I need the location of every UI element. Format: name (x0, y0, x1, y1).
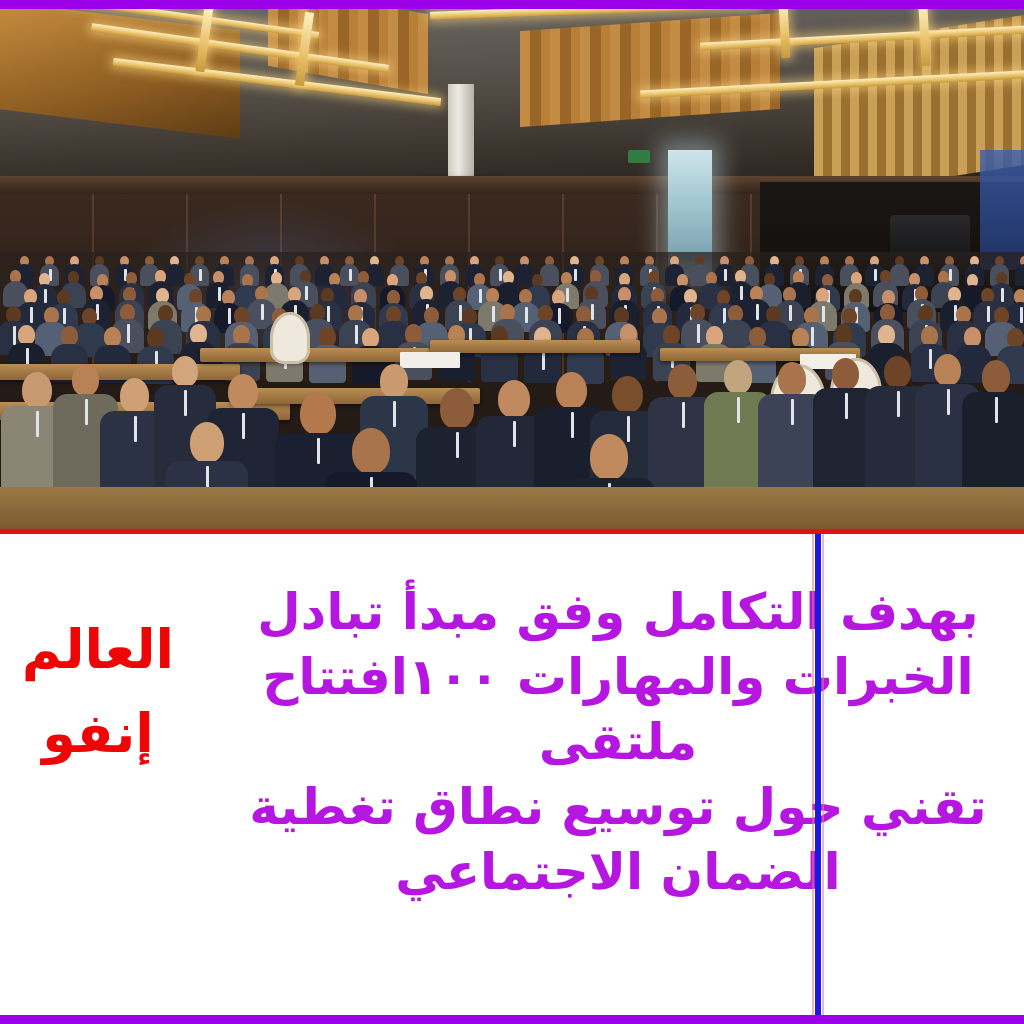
ceiling-wood-panel (520, 13, 780, 127)
attendee-lanyard (789, 305, 792, 322)
bottom-accent-bar (0, 1015, 1024, 1024)
audience-member-head (792, 328, 809, 348)
attendee-lanyard (897, 391, 900, 417)
audience-member-head (1007, 328, 1024, 348)
audience-member-head (921, 326, 938, 346)
brand-line-2: إنفو (0, 692, 196, 776)
audience-member-head (104, 327, 121, 347)
attendee-lanyard (30, 307, 33, 324)
audience-member-head (706, 326, 723, 346)
attendee-lanyard (36, 411, 39, 437)
attendee-lanyard (184, 390, 187, 416)
attendee-lanyard (218, 287, 221, 301)
attendee-lanyard (261, 304, 264, 321)
audience-member-head (147, 328, 164, 348)
audience-member-head (663, 325, 680, 345)
attendee-lanyard (845, 393, 848, 419)
audience-member-head (190, 324, 207, 344)
audience (0, 252, 1024, 529)
attendee-lanyard (393, 401, 396, 427)
attendee-lanyard (995, 397, 998, 423)
ceiling-light-beam (918, 6, 930, 66)
audience-member-head (498, 380, 530, 418)
audience-member-head (964, 327, 981, 347)
attendee-lanyard (305, 286, 308, 300)
audience-member-head (556, 372, 587, 409)
audience-member-head (362, 328, 379, 348)
attendee-lanyard (737, 397, 740, 423)
attendee-lanyard (513, 421, 516, 447)
attendee-lanyard (355, 325, 358, 344)
audience-member-head (982, 360, 1010, 394)
attendee-lanyard (697, 324, 700, 343)
audience-member-head (835, 324, 852, 344)
audience-member-head (61, 326, 78, 346)
attendee-lanyard (492, 306, 495, 323)
audience-member-head (832, 358, 859, 390)
attendee-lanyard (791, 399, 794, 425)
audience-member-head (405, 324, 422, 344)
photo-scene (0, 0, 1024, 529)
audience-member-head (668, 364, 697, 399)
audience-member-head (228, 374, 258, 410)
attendee-lanyard (44, 289, 47, 303)
headline-text: بهدف التكامل وفق مبدأ تبادل الخبرات والم… (218, 580, 1018, 905)
exit-sign-icon (628, 150, 650, 163)
audience-member-head (300, 392, 336, 435)
caption-area: بهدف التكامل وفق مبدأ تبادل الخبرات والم… (0, 534, 1024, 1015)
conference-photo (0, 0, 1024, 529)
attendee-lanyard (591, 304, 594, 321)
attendee-lanyard (627, 416, 630, 442)
audience-member-head (878, 325, 895, 345)
attendee-lanyard (811, 327, 814, 346)
attendee-lanyard (566, 288, 569, 302)
attendee-lanyard (929, 349, 932, 370)
audience-member-head (749, 327, 766, 347)
attendee-lanyard (874, 269, 877, 281)
audience-member-head (22, 372, 52, 408)
audience-member-body (1015, 264, 1024, 286)
attendee-lanyard (85, 399, 88, 425)
top-accent-bar (0, 0, 1024, 9)
audience-member-head (380, 364, 408, 398)
attendee-lanyard (822, 306, 825, 323)
attendee-lanyard (574, 269, 577, 281)
attendee-lanyard (228, 308, 231, 325)
audience-member-head (612, 376, 643, 413)
attendee-lanyard (558, 308, 561, 325)
attendee-lanyard (1020, 307, 1023, 324)
audience-member-head (18, 325, 35, 345)
attendee-lanyard (947, 389, 950, 415)
ceiling-light-beam (779, 2, 791, 58)
attendee-lanyard (1001, 288, 1004, 302)
audience-member-head (352, 428, 390, 474)
attendee-lanyard (127, 324, 130, 343)
attendee-lanyard (63, 308, 66, 325)
audience-member-head (590, 434, 628, 480)
attendee-lanyard (456, 432, 459, 458)
floor (0, 487, 1024, 529)
attendee-lanyard (724, 269, 727, 281)
attendee-lanyard (134, 416, 137, 442)
attendee-lanyard (740, 286, 743, 300)
attendee-lanyard (317, 438, 320, 464)
attendee-lanyard (571, 412, 574, 438)
chair (270, 312, 310, 364)
vertical-divider (815, 534, 821, 1015)
audience-member-head (319, 327, 336, 347)
attendee-lanyard (242, 413, 245, 439)
audience-member-head (120, 378, 149, 413)
news-card: بهدف التكامل وفق مبدأ تبادل الخبرات والم… (0, 0, 1024, 1024)
conference-table (430, 340, 640, 353)
audience-member-head (884, 356, 911, 388)
audience-member-head (172, 356, 198, 387)
brand-logo: العالم إنفو (0, 608, 196, 775)
attendee-lanyard (682, 402, 685, 428)
name-card (400, 352, 460, 368)
audience-member-head (233, 325, 250, 345)
attendee-lanyard (199, 269, 202, 281)
audience-member-head (778, 362, 806, 396)
attendee-lanyard (987, 306, 990, 323)
attendee-lanyard (13, 326, 16, 345)
audience-member-head (934, 354, 961, 386)
attendee-lanyard (459, 305, 462, 322)
audience-member-head (72, 364, 99, 396)
attendee-lanyard (499, 269, 502, 281)
conference-table (200, 348, 430, 362)
attendee-lanyard (525, 307, 528, 324)
brand-line-1: العالم (0, 608, 196, 692)
red-separator-line (0, 529, 1024, 534)
attendee-lanyard (756, 304, 759, 321)
ceiling (0, 0, 1024, 200)
audience-member-head (440, 388, 474, 429)
audience-member-head (724, 360, 752, 394)
projector-mount (448, 84, 474, 184)
attendee-lanyard (479, 289, 482, 303)
audience-member-head (190, 422, 224, 463)
attendee-lanyard (349, 269, 352, 281)
